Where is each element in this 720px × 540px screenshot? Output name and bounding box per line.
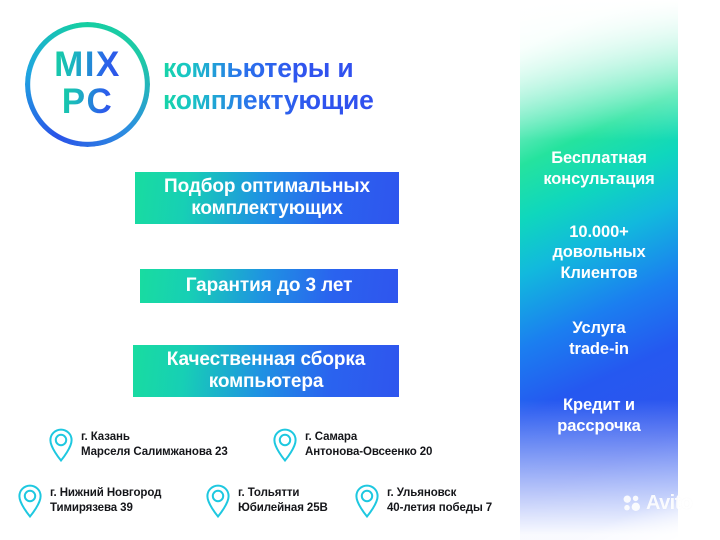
map-pin-icon <box>17 484 43 518</box>
side-benefit-line: Кредит и <box>524 395 674 416</box>
feature-banner-line1: Гарантия до 3 лет <box>186 275 353 297</box>
side-benefit-tradein: Услуга trade-in <box>524 318 674 360</box>
location-text: г. Тольятти Юбилейная 25В <box>238 486 328 516</box>
side-benefits-panel: Бесплатная консультация 10.000+ довольны… <box>520 0 678 540</box>
feature-banner-text: Гарантия до 3 лет <box>186 275 353 297</box>
location-item-ulyanovsk: г. Ульяновск 40-летия победы 7 <box>354 484 492 518</box>
side-benefit-line: довольных <box>524 242 674 263</box>
map-pin-icon <box>205 484 231 518</box>
location-item-tolyatti: г. Тольятти Юбилейная 25В <box>205 484 328 518</box>
location-city: г. Самара <box>305 430 432 445</box>
feature-banner-text: Подбор оптимальных комплектующих <box>164 176 370 220</box>
side-benefit-line: рассрочка <box>524 416 674 437</box>
feature-banner-line1: Подбор оптимальных <box>164 176 370 198</box>
side-benefit-clients: 10.000+ довольных Клиентов <box>524 222 674 284</box>
location-text: г. Самара Антонова-Овсеенко 20 <box>305 430 432 460</box>
logo-wordmark: MIX PC <box>25 22 150 147</box>
feature-banner-line2: комплектующих <box>164 198 370 220</box>
feature-banner-assembly: Качественная сборка компьютера <box>133 345 399 397</box>
side-benefit-line: консультация <box>524 169 674 190</box>
side-benefit-line: Клиентов <box>524 263 674 284</box>
side-benefit-consultation: Бесплатная консультация <box>524 148 674 190</box>
location-text: г. Нижний Новгород Тимирязева 39 <box>50 486 161 516</box>
logo-text-mix: MIX <box>54 48 121 82</box>
map-pin-icon <box>354 484 380 518</box>
location-item-kazan: г. Казань Марселя Салимжанова 23 <box>48 428 228 462</box>
side-benefits-list: Бесплатная консультация 10.000+ довольны… <box>520 0 678 540</box>
page-title: компьютеры и комплектующие <box>163 52 503 117</box>
page-title-line2: комплектующие <box>163 85 374 115</box>
location-address: Тимирязева 39 <box>50 501 161 516</box>
feature-banner-components: Подбор оптимальных комплектующих <box>135 172 399 224</box>
feature-banner-line1: Качественная сборка <box>167 349 365 371</box>
location-city: г. Ульяновск <box>387 486 492 501</box>
logo-text-pc: PC <box>62 84 114 121</box>
feature-banner-warranty: Гарантия до 3 лет <box>140 269 398 303</box>
location-city: г. Нижний Новгород <box>50 486 161 501</box>
location-text: г. Казань Марселя Салимжанова 23 <box>81 430 228 460</box>
side-benefit-line: Услуга <box>524 318 674 339</box>
location-text: г. Ульяновск 40-летия победы 7 <box>387 486 492 516</box>
location-address: Антонова-Овсеенко 20 <box>305 445 432 460</box>
location-city: г. Казань <box>81 430 228 445</box>
logo: MIX PC <box>25 22 150 147</box>
avito-wordmark: Avito <box>646 493 692 513</box>
map-pin-icon <box>48 428 74 462</box>
map-pin-icon <box>272 428 298 462</box>
side-benefit-credit: Кредит и рассрочка <box>524 395 674 437</box>
avito-logo-icon <box>622 493 642 513</box>
page-title-line1: компьютеры и <box>163 53 353 83</box>
location-item-nizhny-novgorod: г. Нижний Новгород Тимирязева 39 <box>17 484 161 518</box>
side-benefit-line: 10.000+ <box>524 222 674 243</box>
side-benefit-line: Бесплатная <box>524 148 674 169</box>
avito-watermark: Avito <box>622 493 692 513</box>
location-city: г. Тольятти <box>238 486 328 501</box>
location-address: 40-летия победы 7 <box>387 501 492 516</box>
location-address: Марселя Салимжанова 23 <box>81 445 228 460</box>
poster-canvas: Бесплатная консультация 10.000+ довольны… <box>0 0 720 540</box>
location-address: Юбилейная 25В <box>238 501 328 516</box>
feature-banner-text: Качественная сборка компьютера <box>167 349 365 393</box>
side-benefit-line: trade-in <box>524 339 674 360</box>
feature-banner-line2: компьютера <box>167 371 365 393</box>
location-item-samara: г. Самара Антонова-Овсеенко 20 <box>272 428 432 462</box>
